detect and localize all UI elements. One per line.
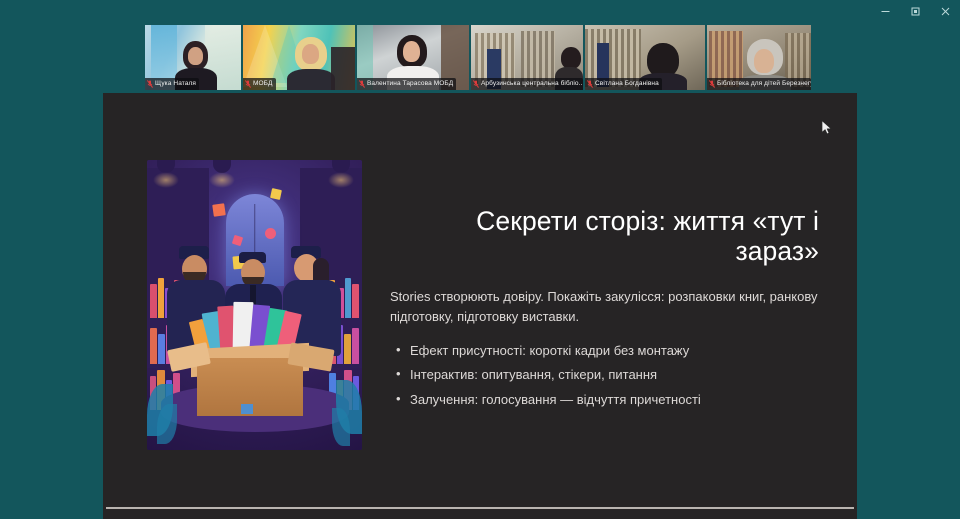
- participant-name-badge: Світлана Богданівна: [585, 78, 662, 90]
- mouse-cursor: [821, 120, 832, 135]
- participant-name-badge: Валентина Тарасова МОБД: [357, 78, 456, 90]
- participant-name: Валентина Тарасова МОБД: [367, 78, 453, 90]
- participant-tile[interactable]: Арбузинська центральна бібліо..: [471, 25, 583, 90]
- close-icon[interactable]: [930, 0, 960, 22]
- participant-name: Щука Наталя: [155, 78, 196, 90]
- sticky-note: [270, 188, 282, 200]
- minimize-icon[interactable]: [870, 0, 900, 22]
- participant-filmstrip[interactable]: Щука Наталя МОБД: [145, 25, 817, 90]
- participant-tile[interactable]: Світлана Богданівна: [585, 25, 705, 90]
- slide-body-text: Stories створюють довіру. Покажіть закул…: [390, 287, 819, 327]
- slide-bullet-item: Залучення: голосування — відчуття причет…: [390, 390, 819, 409]
- mic-muted-icon: [587, 80, 593, 88]
- mic-muted-icon: [147, 80, 153, 88]
- participant-name-badge: Арбузинська центральна бібліо..: [471, 78, 583, 90]
- librarians-unboxing-books-illustration: [147, 160, 362, 450]
- slide-bullet-list: Ефект присутності: короткі кадри без мон…: [390, 341, 819, 409]
- participant-name: Світлана Богданівна: [595, 78, 659, 90]
- mic-muted-icon: [709, 80, 715, 88]
- window-titlebar: [0, 0, 960, 22]
- mic-muted-icon: [359, 80, 365, 88]
- screen-share-stage[interactable]: Секрети сторіз: життя «тут і зараз» Stor…: [103, 93, 857, 519]
- slide-title: Секрети сторіз: життя «тут і зараз»: [390, 206, 819, 267]
- sticky-note: [212, 203, 226, 217]
- participant-tile[interactable]: Щука Наталя: [145, 25, 241, 90]
- sticky-note: [265, 228, 276, 239]
- participant-name: Бібліотека для дітей Березнегув: [717, 78, 811, 90]
- participant-tile-active[interactable]: Валентина Тарасова МОБД: [357, 25, 469, 90]
- mic-muted-icon: [473, 80, 479, 88]
- slide-text-column: Секрети сторіз: життя «тут і зараз» Stor…: [390, 160, 819, 452]
- participant-tile[interactable]: Бібліотека для дітей Березнегув: [707, 25, 811, 90]
- participant-name-badge: Щука Наталя: [145, 78, 199, 90]
- slide-bullet-item: Ефект присутності: короткі кадри без мон…: [390, 341, 819, 360]
- slide-bottom-rule: [106, 507, 854, 509]
- presentation-slide: Секрети сторіз: життя «тут і зараз» Stor…: [103, 93, 857, 519]
- restore-icon[interactable]: [900, 0, 930, 22]
- participant-tile[interactable]: МОБД: [243, 25, 355, 90]
- mic-muted-icon: [245, 80, 251, 88]
- participant-name-badge: Бібліотека для дітей Березнегув: [707, 78, 811, 90]
- participant-name-badge: МОБД: [243, 78, 276, 90]
- participant-name: МОБД: [253, 78, 273, 90]
- participant-name: Арбузинська центральна бібліо..: [481, 78, 582, 90]
- slide-bullet-item: Інтерактив: опитування, стікери, питання: [390, 365, 819, 384]
